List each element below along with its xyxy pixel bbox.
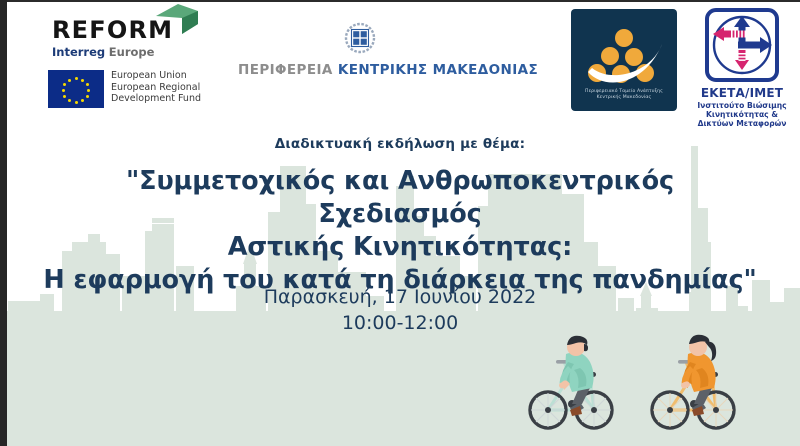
cyclist-left [530,336,612,428]
event-date: Παρασκευή, 17 Ιουνίου 2022 [0,284,800,310]
event-kicker: Διαδικτυακή εκδήλωση με θέμα: [0,136,800,152]
window-top-border [7,0,800,2]
window-left-border [0,0,7,446]
event-announcement-slide: REFORM Interreg Europe [0,0,800,446]
event-title: "Συμμετοχικός και Ανθρωποκεντρικός Σχεδι… [40,165,760,297]
event-title-line-1: "Συμμετοχικός και Ανθρωποκεντρικός Σχεδι… [40,165,760,231]
cyclists-illustration [0,326,800,446]
cyclist-right [652,335,734,428]
event-title-line-2: Αστικής Κινητικότητας: [40,231,760,264]
